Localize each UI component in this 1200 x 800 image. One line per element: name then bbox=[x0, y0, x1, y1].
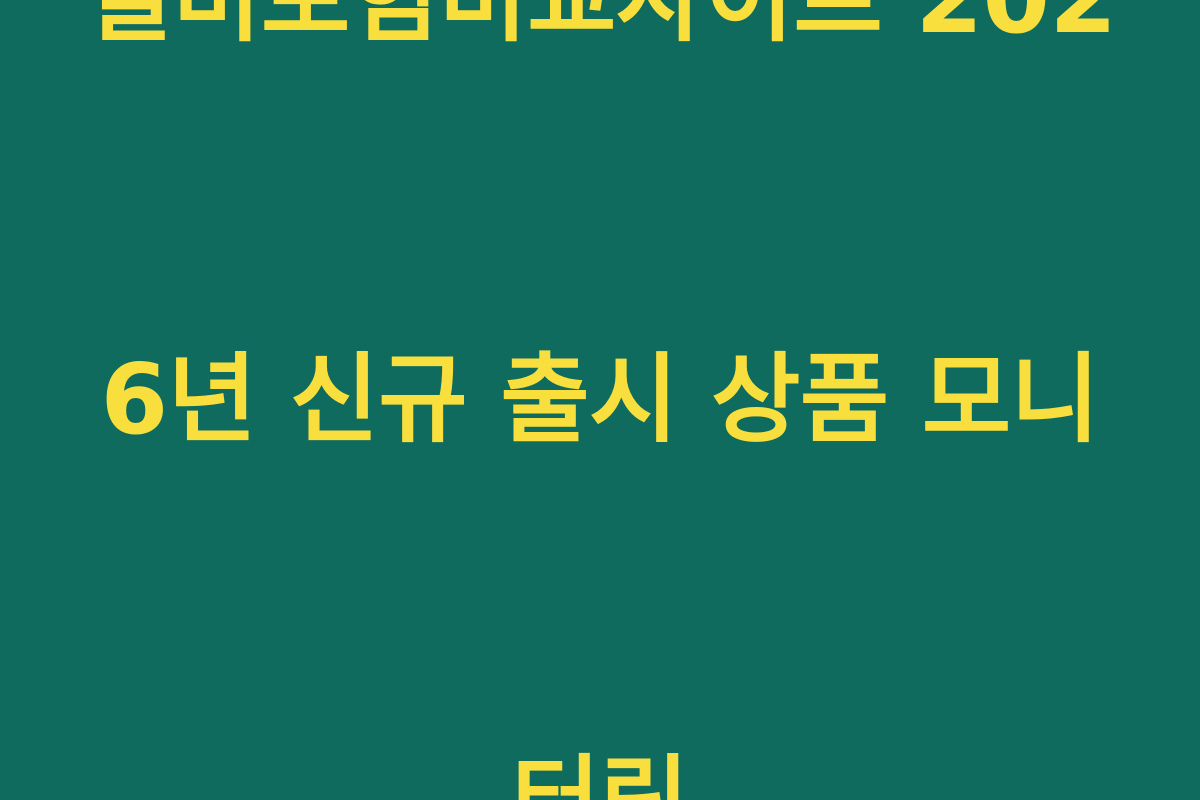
page-title-line-2: 6년 신규 출시 상품 모니 bbox=[80, 333, 1120, 467]
page-title-line-3: 터링 bbox=[80, 735, 1120, 800]
banner-canvas: 실비보험비교사이트 202 6년 신규 출시 상품 모니 터링 bbox=[0, 0, 1200, 800]
page-title: 실비보험비교사이트 202 6년 신규 출시 상품 모니 터링 bbox=[80, 0, 1120, 800]
page-title-line-1: 실비보험비교사이트 202 bbox=[80, 0, 1120, 65]
